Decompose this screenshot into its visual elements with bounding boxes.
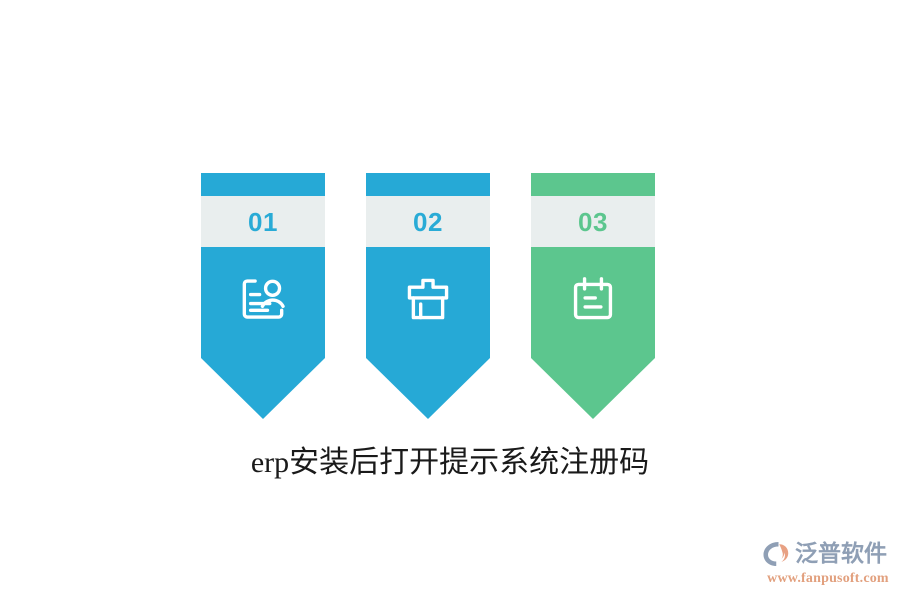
banner-icon-slot-01 bbox=[201, 259, 325, 339]
fanpu-logo-glyph bbox=[762, 539, 792, 569]
banner-group: 01 02 bbox=[201, 173, 655, 419]
banner-number-band-01: 01 bbox=[201, 196, 325, 247]
banner-icon-slot-02 bbox=[366, 259, 490, 339]
banner-card-02[interactable]: 02 bbox=[366, 173, 490, 419]
banner-number-label-02: 02 bbox=[413, 209, 443, 235]
banner-icon-slot-03 bbox=[531, 259, 655, 339]
id-card-contact-icon bbox=[236, 272, 290, 326]
brand-watermark[interactable]: 泛普软件 www.fanpusoft.com bbox=[762, 538, 894, 590]
fanpu-logo-icon bbox=[762, 539, 792, 569]
brand-top-row: 泛普软件 bbox=[762, 538, 894, 570]
banner-card-01[interactable]: 01 bbox=[201, 173, 325, 419]
notepad-notebook-icon bbox=[566, 272, 620, 326]
page-canvas: 01 02 bbox=[0, 0, 900, 600]
banner-number-label-03: 03 bbox=[578, 209, 608, 235]
storefront-shop-icon bbox=[401, 272, 455, 326]
page-caption: erp安装后打开提示系统注册码 bbox=[0, 437, 900, 481]
brand-url-label: www.fanpusoft.com bbox=[762, 571, 894, 586]
brand-name-label: 泛普软件 bbox=[795, 543, 887, 566]
banner-card-03[interactable]: 03 bbox=[531, 173, 655, 419]
banner-number-band-02: 02 bbox=[366, 196, 490, 247]
banner-number-label-01: 01 bbox=[248, 209, 278, 235]
banner-number-band-03: 03 bbox=[531, 196, 655, 247]
